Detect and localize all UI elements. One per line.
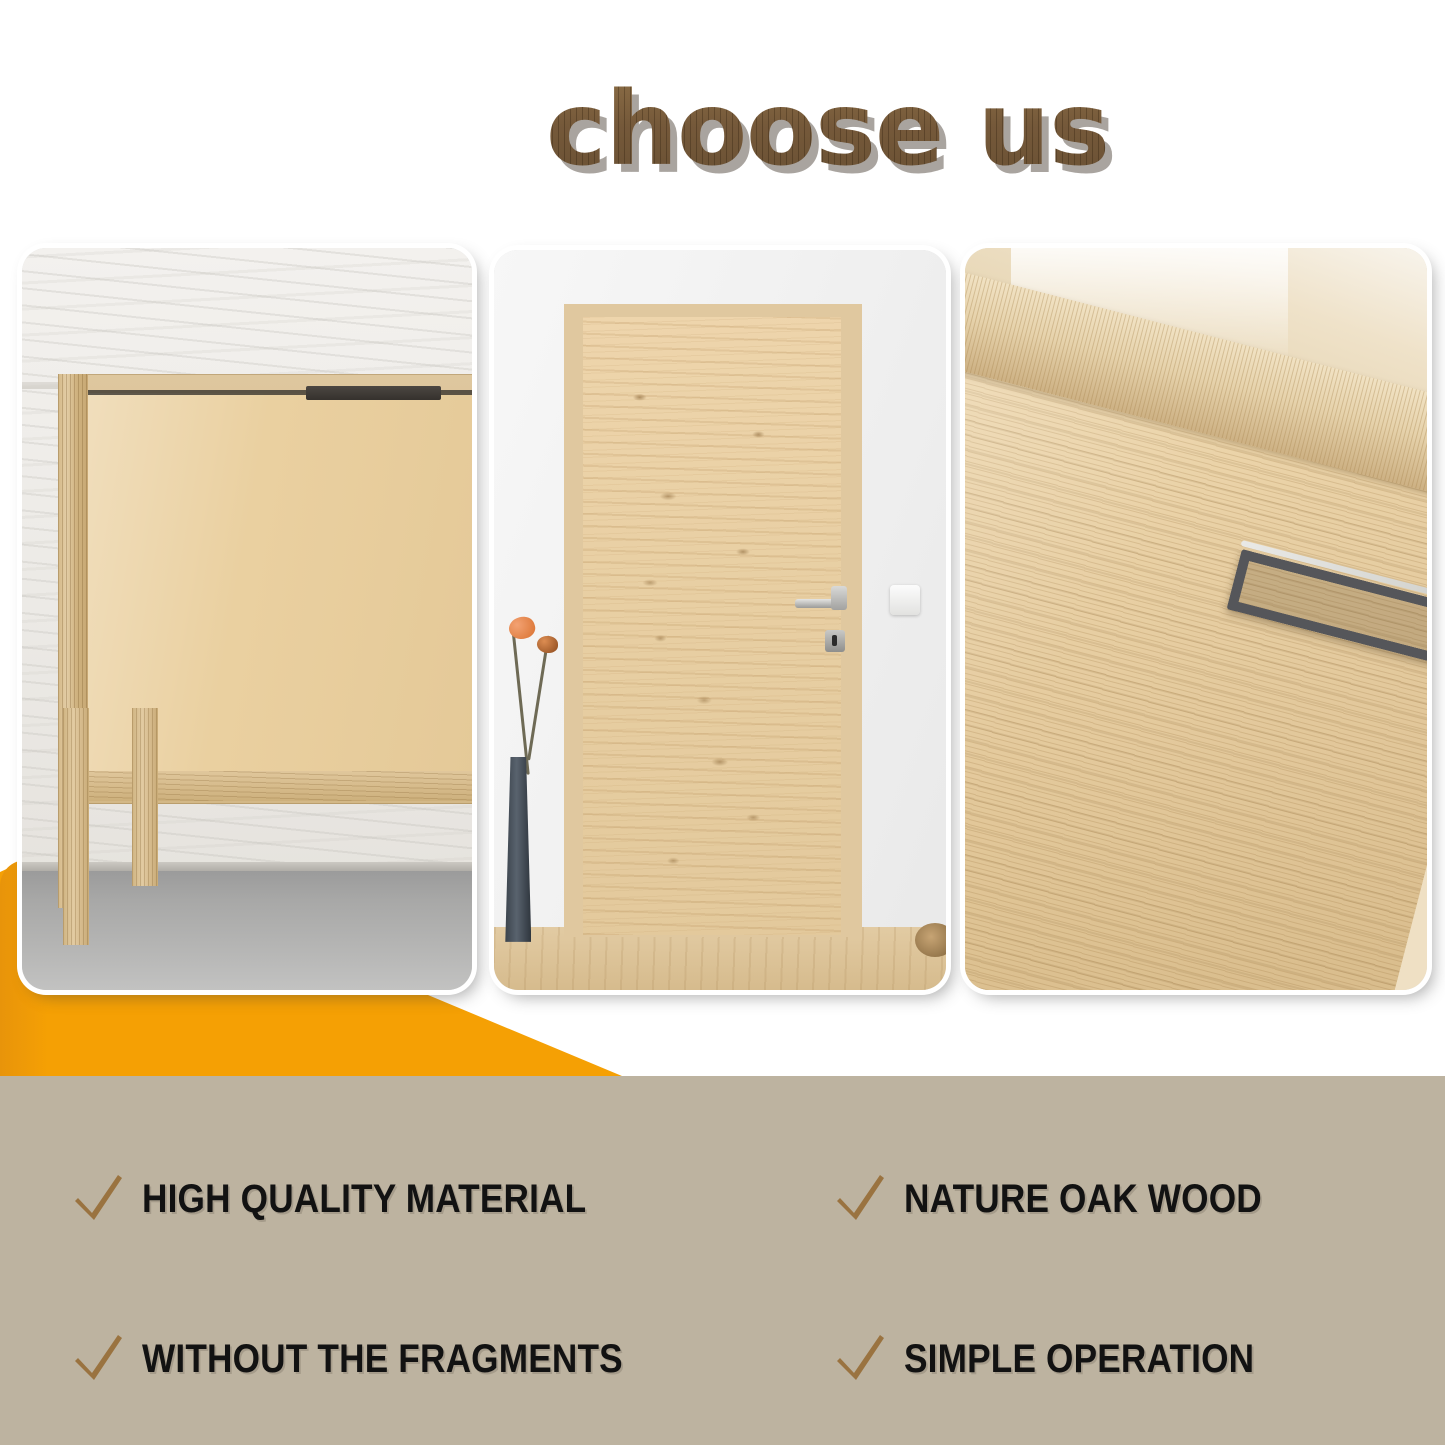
dried-poppy-bloom [537,636,558,653]
photo-gallery [0,0,1445,1020]
cabinet-leg-front [63,708,89,945]
oak-door-photo [494,250,946,990]
benefit-item: WITHOUT THE FRAGMENTS [68,1328,688,1390]
check-icon [68,1328,130,1390]
benefit-label: HIGH QUALITY MATERIAL [142,1178,586,1220]
oak-drawer-detail-photo [965,248,1427,990]
door-lock-escutcheon [825,630,845,652]
cabinet-leg-back [132,708,158,886]
door-handle-base [831,586,847,610]
baseboard [22,862,472,871]
cabinet-bottom-rail [58,771,472,801]
cabinet-handle [306,386,441,400]
check-icon [68,1168,130,1230]
light-switch [890,585,920,615]
oak-door-leaf [583,317,841,936]
wood-log-stool [915,923,946,957]
infographic-root: WHY WHY choose us [0,0,1445,1445]
check-icon [830,1328,892,1390]
benefit-item: NATURE OAK WOOD [830,1168,1311,1230]
benefits-section: HIGH QUALITY MATERIAL NATURE OAK WOOD WI… [0,1076,1445,1445]
benefit-label: SIMPLE OPERATION [904,1338,1254,1380]
check-icon [830,1168,892,1230]
benefit-item: SIMPLE OPERATION [830,1328,1302,1390]
benefit-item: HIGH QUALITY MATERIAL [68,1168,647,1230]
benefit-label: WITHOUT THE FRAGMENTS [142,1338,623,1380]
oak-cabinet-photo [22,248,472,990]
floor-surface [22,871,472,990]
benefit-label: NATURE OAK WOOD [904,1178,1262,1220]
